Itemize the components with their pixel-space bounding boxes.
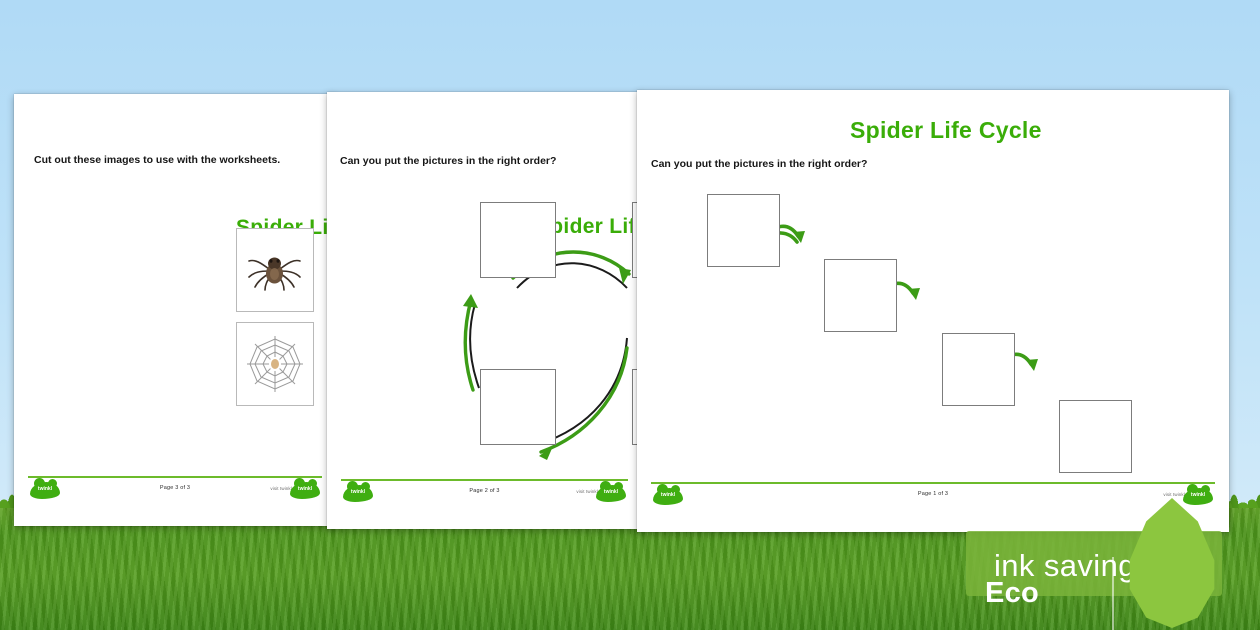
cycle-box-1[interactable] xyxy=(480,202,556,278)
cycle-arrows xyxy=(327,92,642,529)
leaf-vein xyxy=(1112,557,1114,630)
twinkl-wordmark: twinkl xyxy=(290,486,320,492)
sequence-box-4[interactable] xyxy=(1059,400,1132,473)
page-footer: twinkl Page 2 of 3 visit twinkl.com twin… xyxy=(327,473,642,529)
page-footer: twinkl Page 1 of 3 visit twinkl.com twin… xyxy=(637,476,1229,532)
twinkl-wordmark: twinkl xyxy=(653,492,683,498)
page-footer: twinkl Page 3 of 3 visit twinkl.com twin… xyxy=(14,470,336,526)
twinkl-wordmark: twinkl xyxy=(343,489,373,495)
sequence-box-2[interactable] xyxy=(824,259,897,332)
worksheet-page-cycle[interactable]: Spider Life Cycle Can you put the pictur… xyxy=(327,92,642,529)
twinkl-logo-right[interactable]: twinkl xyxy=(1183,488,1213,505)
twinkl-wordmark: twinkl xyxy=(30,486,60,492)
footer-rule xyxy=(651,482,1215,484)
screenshot-stage: Spider Life Cycle Cut out these images t… xyxy=(0,0,1260,630)
sequence-box-3[interactable] xyxy=(942,333,1015,406)
sequence-box-1[interactable] xyxy=(707,194,780,267)
cycle-box-2[interactable] xyxy=(480,369,556,445)
twinkl-logo-right[interactable]: twinkl xyxy=(596,485,626,502)
footer-rule xyxy=(28,476,322,478)
worksheet-page-cutouts[interactable]: Spider Life Cycle Cut out these images t… xyxy=(14,94,336,526)
twinkl-wordmark: twinkl xyxy=(1183,492,1213,498)
worksheet-page-sequence[interactable]: Spider Life Cycle Can you put the pictur… xyxy=(637,90,1229,532)
spider-web-icon xyxy=(243,334,307,394)
twinkl-logo-right[interactable]: twinkl xyxy=(290,482,320,499)
eco-badge-leaf-label: Eco xyxy=(966,577,1058,610)
eco-badge: ink saving Eco xyxy=(966,531,1260,596)
cutout-card-spider[interactable] xyxy=(236,228,314,312)
twinkl-wordmark: twinkl xyxy=(596,489,626,495)
page-instruction: Cut out these images to use with the wor… xyxy=(34,154,280,166)
footer-rule xyxy=(341,479,628,481)
cutout-card-web[interactable] xyxy=(236,322,314,406)
sequence-arrows xyxy=(637,90,1229,532)
spider-icon xyxy=(245,247,305,293)
page-number: Page 1 of 3 xyxy=(637,491,1229,497)
